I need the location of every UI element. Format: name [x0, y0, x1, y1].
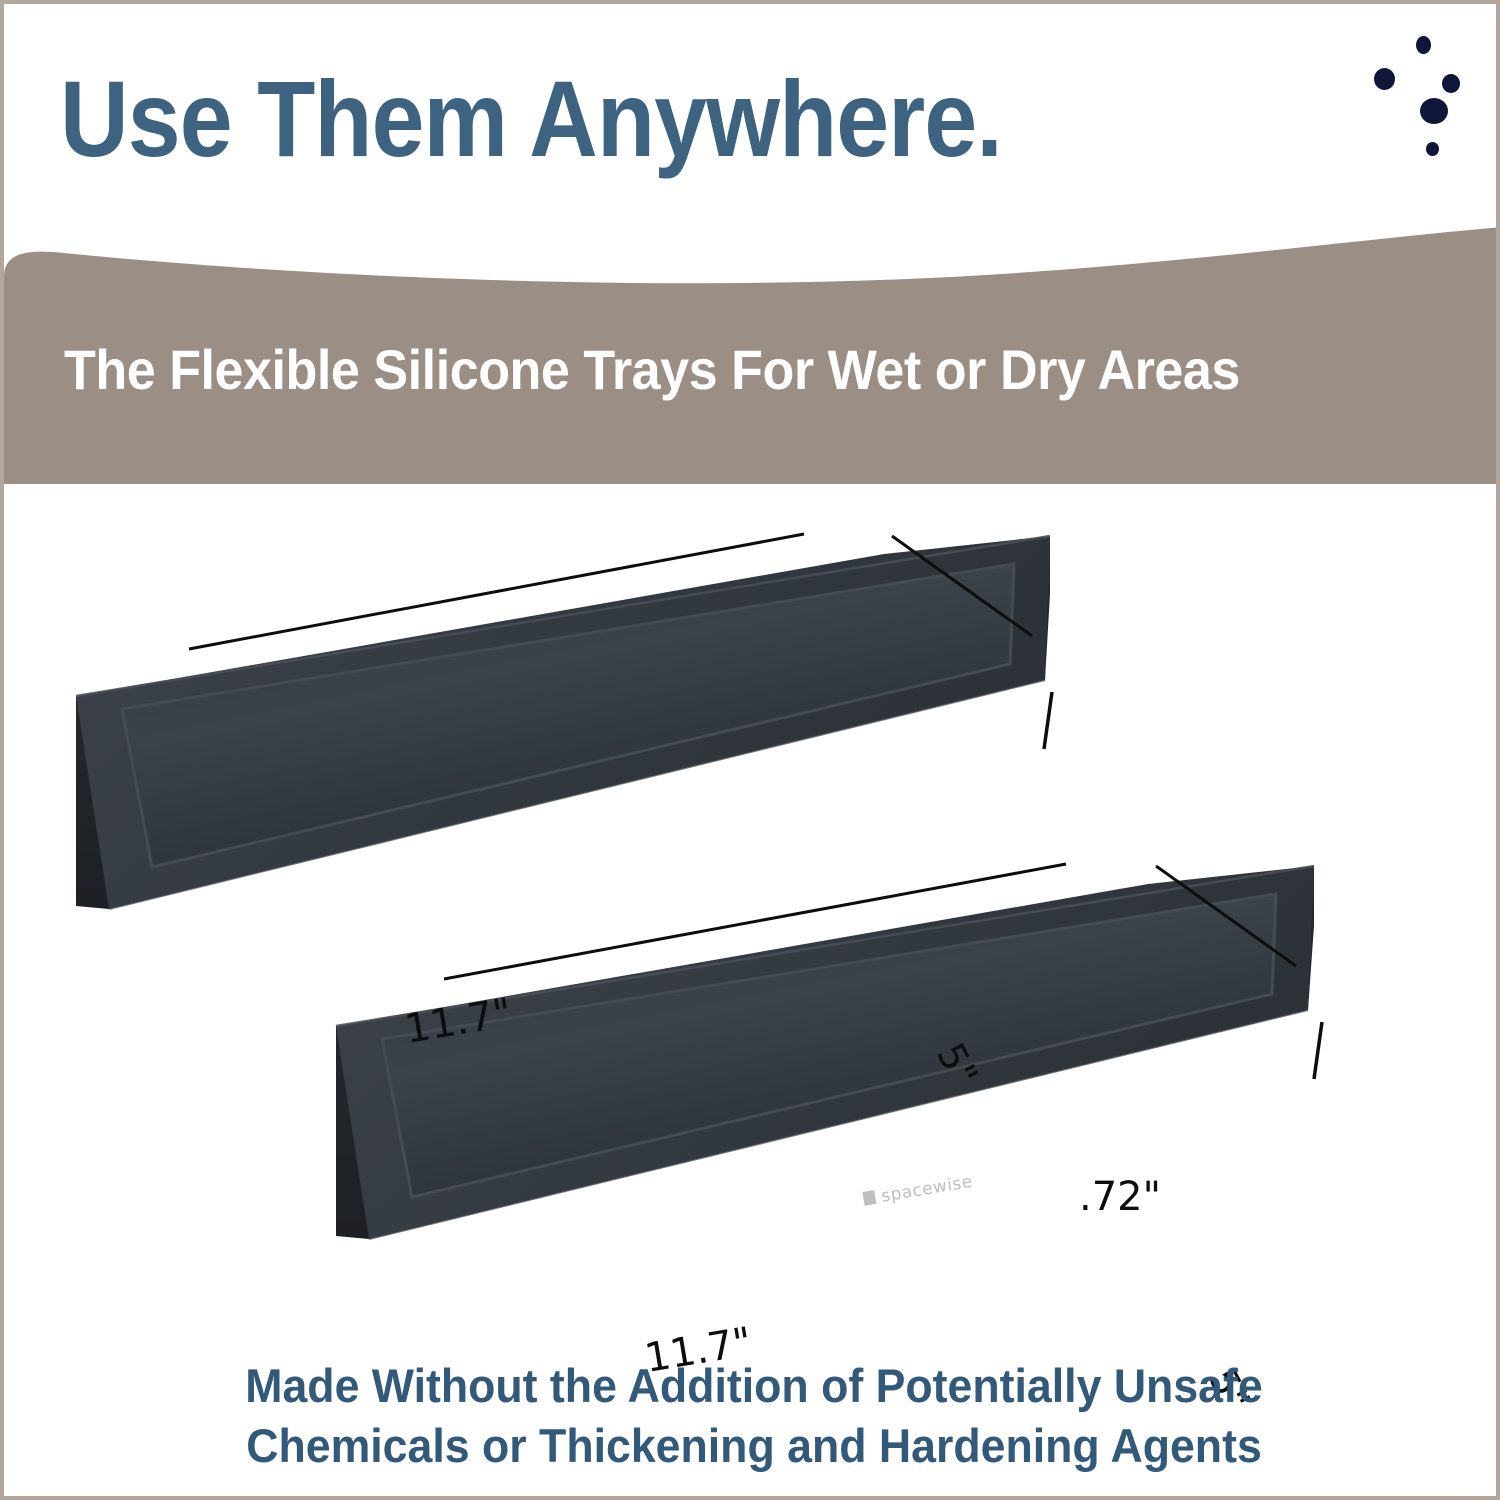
infographic-canvas: Use Them Anywhere. The Flexible Silicone… [0, 0, 1500, 1500]
dot-icon [1426, 142, 1439, 156]
tray-lower: spacewise [336, 866, 1314, 1374]
banner-subtitle: The Flexible Silicone Trays For Wet or D… [64, 337, 1240, 402]
dot-icon [1374, 68, 1395, 90]
subtitle-banner: The Flexible Silicone Trays For Wet or D… [4, 219, 1500, 484]
dot-icon [1420, 98, 1448, 124]
product-illustration: spacewise [4, 474, 1500, 1374]
footer-caption: Made Without the Addition of Potentially… [4, 1356, 1500, 1476]
footer-caption-line-1: Made Without the Addition of Potentially… [42, 1356, 1467, 1416]
dot-icon [1442, 74, 1460, 93]
dot-icon [1416, 36, 1431, 54]
footer-caption-line-2: Chemicals or Thickening and Hardening Ag… [42, 1416, 1467, 1476]
brand-emboss: spacewise [862, 1172, 974, 1210]
dot-cluster-decoration [1364, 32, 1494, 172]
tray-graphics: spacewise [4, 474, 1500, 1374]
svg-text:spacewise: spacewise [880, 1172, 974, 1207]
page-headline: Use Them Anywhere. [60, 62, 1002, 175]
tray-upper-height-label: .72" [1079, 1174, 1161, 1220]
